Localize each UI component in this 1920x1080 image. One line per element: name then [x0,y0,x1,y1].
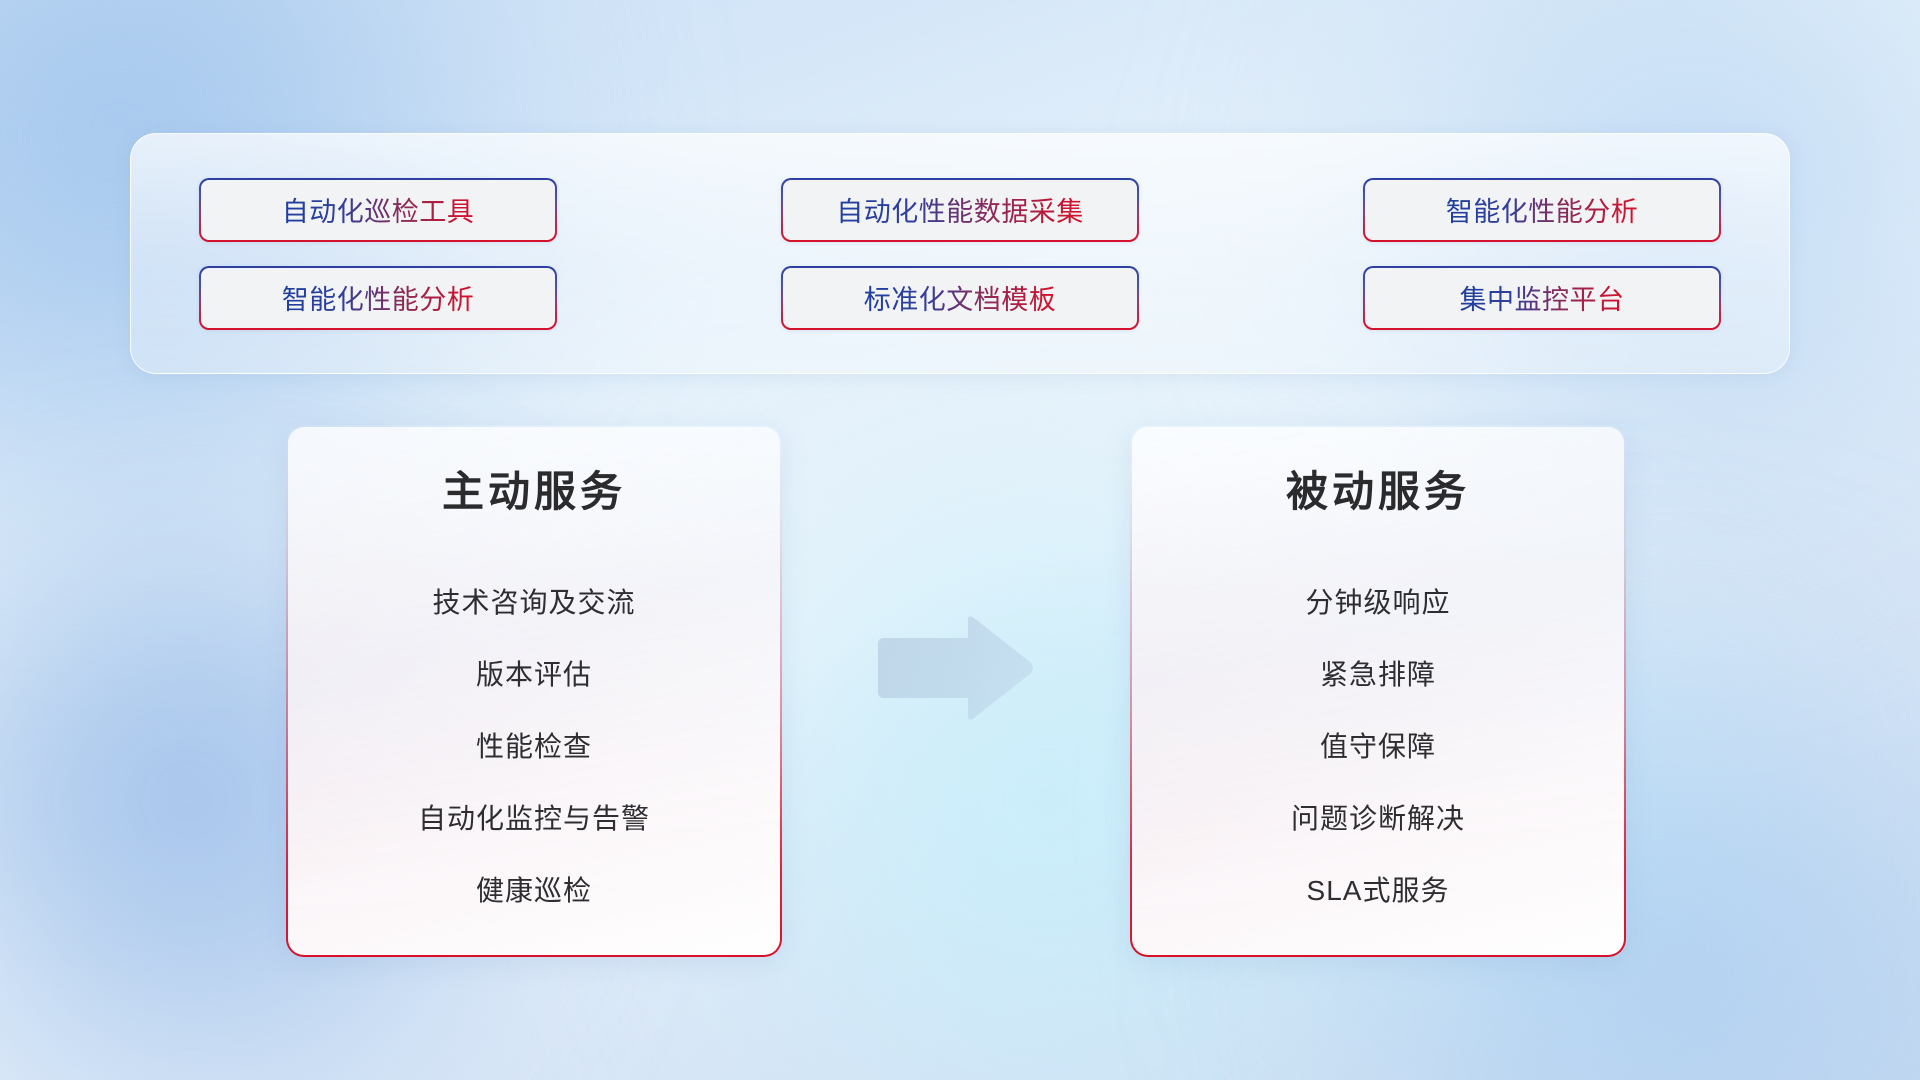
capability-chip-automation-performance-data-collection[interactable]: 自动化性能数据采集 [781,178,1139,242]
capability-chip-label: 自动化性能数据采集 [836,190,1084,229]
service-item-list: 技术咨询及交流 版本评估 性能检查 自动化监控与告警 健康巡检 [322,567,746,927]
card-title: 被动服务 [1286,467,1470,517]
list-item: 技术咨询及交流 [322,567,746,639]
list-item: 问题诊断解决 [1166,783,1590,855]
capability-chip-label: 自动化巡检工具 [282,190,475,229]
capability-chip-standardized-document-template[interactable]: 标准化文档模板 [781,266,1139,330]
capability-panel: 自动化巡检工具 自动化性能数据采集 智能化性能分析 智能化性能分析 标准化文档模… [130,133,1790,374]
capability-row-1: 自动化巡检工具 自动化性能数据采集 智能化性能分析 [199,178,1721,242]
capability-chip-label: 集中监控平台 [1460,278,1625,317]
capability-chip-intelligent-performance-analysis-b[interactable]: 智能化性能分析 [199,266,557,330]
card-title: 主动服务 [442,467,626,517]
list-item: 健康巡检 [322,855,746,927]
capability-chip-label: 智能化性能分析 [1446,190,1639,229]
capability-chip-intelligent-performance-analysis-a[interactable]: 智能化性能分析 [1363,178,1721,242]
right-arrow-icon [872,614,1036,722]
list-item: 紧急排障 [1166,639,1590,711]
capability-chip-centralized-monitoring-platform[interactable]: 集中监控平台 [1363,266,1721,330]
list-item: 分钟级响应 [1166,567,1590,639]
capability-row-2: 智能化性能分析 标准化文档模板 集中监控平台 [199,266,1721,330]
service-item-list: 分钟级响应 紧急排障 值守保障 问题诊断解决 SLA式服务 [1166,567,1590,927]
capability-chip-label: 标准化文档模板 [864,278,1057,317]
capability-chip-label: 智能化性能分析 [282,278,475,317]
service-card-reactive: 被动服务 分钟级响应 紧急排障 值守保障 问题诊断解决 SLA式服务 [1130,425,1626,957]
list-item: 值守保障 [1166,711,1590,783]
list-item: 自动化监控与告警 [322,783,746,855]
list-item: 版本评估 [322,639,746,711]
service-card-proactive: 主动服务 技术咨询及交流 版本评估 性能检查 自动化监控与告警 健康巡检 [286,425,782,957]
list-item: 性能检查 [322,711,746,783]
list-item: SLA式服务 [1166,855,1590,927]
capability-chip-automation-inspection-tool[interactable]: 自动化巡检工具 [199,178,557,242]
